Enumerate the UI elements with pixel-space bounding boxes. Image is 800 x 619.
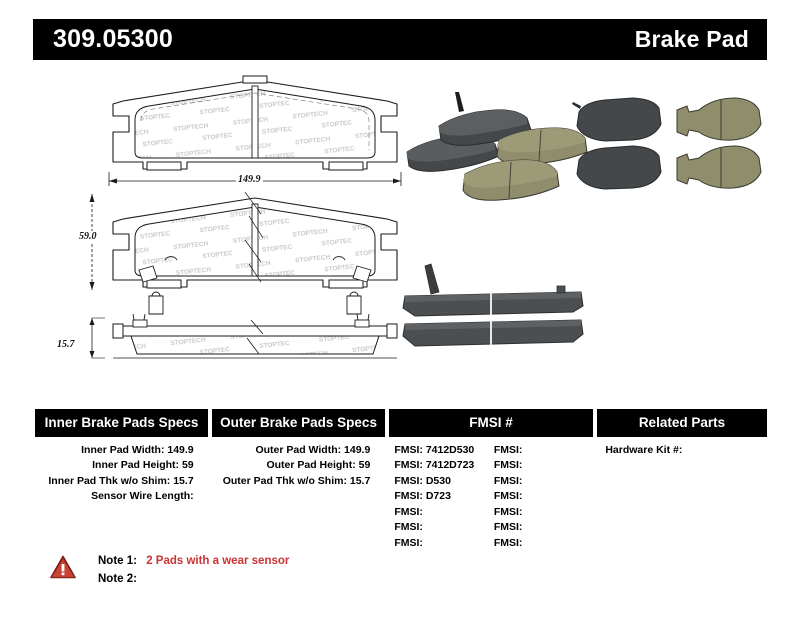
- spec-row: Inner Pad Thk w/o Shim: 15.7: [35, 474, 208, 490]
- photo-pads-angled-group: [403, 90, 593, 210]
- fmsi-label: FMSI:: [494, 459, 523, 471]
- spec-value: 15.7: [350, 475, 370, 487]
- fmsi-row: FMSI: D530: [394, 474, 494, 490]
- fmsi-value: D723: [426, 490, 451, 502]
- fmsi-label: FMSI:: [394, 475, 423, 487]
- fmsi-label: FMSI:: [494, 490, 523, 502]
- fmsi-row: FMSI:: [394, 520, 494, 536]
- related-part-row: Hardware Kit #:: [597, 443, 767, 459]
- spec-value: 149.9: [167, 444, 193, 456]
- note-row-2: Note 2:: [98, 570, 289, 588]
- outer-specs-cell: Outer Pad Width: 149.9 Outer Pad Height:…: [212, 443, 385, 490]
- note-label-2: Note 2:: [98, 573, 137, 585]
- fmsi-label: FMSI:: [494, 521, 523, 533]
- fmsi-row: FMSI:: [494, 505, 594, 521]
- column-header-related-parts: Related Parts: [597, 409, 767, 437]
- fmsi-value: D530: [426, 475, 451, 487]
- fmsi-row: FMSI: 7412D723: [394, 458, 494, 474]
- spec-row: Outer Pad Thk w/o Shim: 15.7: [212, 474, 385, 490]
- fmsi-label: FMSI:: [394, 444, 423, 456]
- fmsi-row: FMSI: D723: [394, 489, 494, 505]
- dimension-label-thickness: 15.7: [55, 339, 77, 350]
- fmsi-cell: FMSI: 7412D530 FMSI: 7412D723 FMSI: D530: [388, 443, 593, 552]
- note-label-1: Note 1:: [98, 555, 137, 567]
- fmsi-label: FMSI:: [394, 490, 423, 502]
- fmsi-label: FMSI:: [494, 506, 523, 518]
- spec-value: 149.9: [344, 444, 370, 456]
- fmsi-row: FMSI:: [494, 520, 594, 536]
- fmsi-label: FMSI:: [394, 537, 423, 549]
- spec-label: Inner Pad Height:: [92, 459, 179, 471]
- spec-label: Outer Pad Height:: [266, 459, 355, 471]
- related-part-label: Hardware Kit #:: [605, 444, 682, 456]
- spec-label: Inner Pad Width:: [81, 444, 164, 456]
- fmsi-row: FMSI:: [394, 536, 494, 552]
- spec-table-header-row: Inner Brake Pads Specs Outer Brake Pads …: [35, 409, 767, 437]
- product-type-title: Brake Pad: [635, 28, 749, 51]
- pad-side-elevation-drawing: [105, 314, 405, 370]
- spec-value: 59: [182, 459, 194, 471]
- fmsi-row: FMSI:: [494, 443, 594, 459]
- column-header-outer-specs: Outer Brake Pads Specs: [212, 409, 385, 437]
- column-header-inner-specs: Inner Brake Pads Specs: [35, 409, 208, 437]
- inner-specs-cell: Inner Pad Width: 149.9 Inner Pad Height:…: [35, 443, 208, 505]
- fmsi-label: FMSI:: [494, 444, 523, 456]
- fmsi-row: FMSI:: [494, 474, 594, 490]
- height-dimension-line: [79, 192, 105, 292]
- spec-value: 59: [359, 459, 371, 471]
- fmsi-value: 7412D723: [426, 459, 474, 471]
- spec-row: Inner Pad Width: 149.9: [35, 443, 208, 459]
- spec-table-body-row: Inner Pad Width: 149.9 Inner Pad Height:…: [35, 443, 767, 552]
- photo-pads-four-up: [571, 94, 767, 204]
- photo-pads-edge-view: [395, 262, 595, 354]
- fmsi-row: FMSI:: [494, 489, 594, 505]
- spec-label: Outer Pad Width:: [255, 444, 341, 456]
- column-header-fmsi: FMSI #: [389, 409, 593, 437]
- fmsi-row: FMSI: 7412D530: [394, 443, 494, 459]
- spec-row: Outer Pad Width: 149.9: [212, 443, 385, 459]
- note-row-1: Note 1: 2 Pads with a wear sensor: [98, 552, 289, 570]
- spec-value: 15.7: [173, 475, 193, 487]
- dimension-label-height: 59.0: [77, 231, 99, 242]
- product-spec-sheet: 309.05300 Brake Pad STOPTECH STOPTECH: [0, 0, 800, 619]
- fmsi-row: FMSI:: [394, 505, 494, 521]
- fmsi-row: FMSI:: [494, 458, 594, 474]
- related-parts-cell: Hardware Kit #:: [597, 443, 767, 459]
- warning-triangle-icon: [50, 555, 76, 579]
- fmsi-label: FMSI:: [394, 459, 423, 471]
- illustration-area: STOPTECH STOPTECH: [33, 66, 767, 386]
- fmsi-column-right: FMSI: FMSI: FMSI: FMSI:: [494, 443, 594, 552]
- fmsi-label: FMSI:: [494, 537, 523, 549]
- spec-label: Sensor Wire Length:: [91, 490, 194, 502]
- spec-row: Outer Pad Height: 59: [212, 458, 385, 474]
- notes-section: Note 1: 2 Pads with a wear sensor Note 2…: [50, 552, 289, 588]
- fmsi-column-left: FMSI: 7412D530 FMSI: 7412D723 FMSI: D530: [394, 443, 494, 552]
- spec-table: Inner Brake Pads Specs Outer Brake Pads …: [35, 409, 767, 551]
- spec-label: Inner Pad Thk w/o Shim:: [48, 475, 170, 487]
- part-number: 309.05300: [53, 27, 173, 52]
- fmsi-value: 7412D530: [426, 444, 474, 456]
- fmsi-label: FMSI:: [394, 521, 423, 533]
- inner-pad-face-drawing: [105, 192, 405, 317]
- thickness-dimension-line: [79, 314, 105, 362]
- dimension-label-width: 149.9: [236, 174, 263, 185]
- spec-label: Outer Pad Thk w/o Shim:: [223, 475, 347, 487]
- fmsi-row: FMSI:: [494, 536, 594, 552]
- fmsi-label: FMSI:: [394, 506, 423, 518]
- header-bar: 309.05300 Brake Pad: [33, 19, 767, 60]
- spec-row: Sensor Wire Length:: [35, 489, 208, 505]
- spec-row: Inner Pad Height: 59: [35, 458, 208, 474]
- outer-pad-face-drawing: STOPTECH STOPTECH: [105, 74, 405, 179]
- note-value-1: 2 Pads with a wear sensor: [146, 555, 289, 567]
- notes-text-block: Note 1: 2 Pads with a wear sensor Note 2…: [98, 552, 289, 588]
- fmsi-label: FMSI:: [494, 475, 523, 487]
